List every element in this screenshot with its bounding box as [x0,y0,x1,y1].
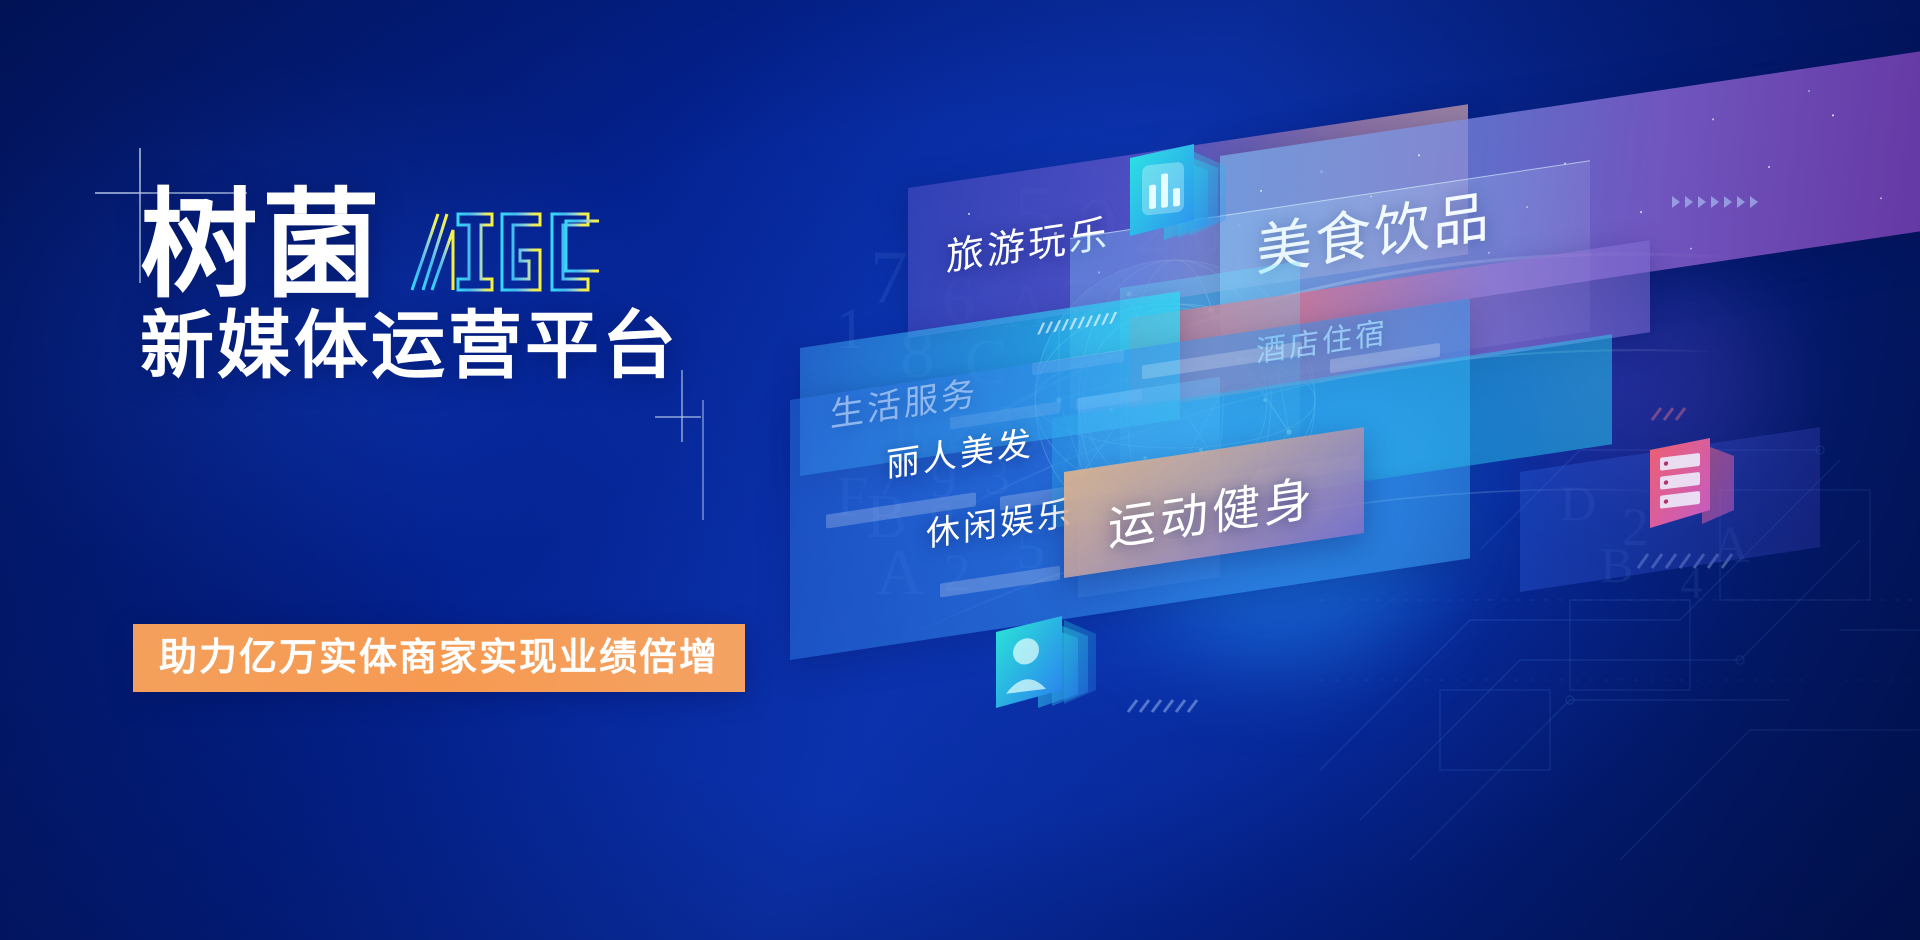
brand-name: 树菌 [140,186,384,304]
promo-banner: 5926476A718C0BE2BE07793B85A2F192DBA4 [0,0,1920,940]
card-header-stripes [1036,310,1122,335]
floating-icon-person[interactable] [988,608,1106,729]
hero-text-block: 树菌 [0,0,820,940]
hero-subtitle: 新媒体运营平台 [140,305,679,388]
floating-icon-chart[interactable] [1122,136,1240,257]
tagline-text: 助力亿万实体商家实现业绩倍增 [159,638,719,676]
category-label-fitness: 运动健身 [1108,458,1316,559]
aigc-logo [406,208,606,294]
placeholder-line [1142,341,1302,379]
floating-icon-server[interactable] [1642,430,1754,551]
vertical-rule [702,400,704,520]
category-collage: 旅游玩乐 美食饮品 [820,0,1920,940]
brand-title-row: 树菌 [140,186,606,304]
tagline-badge: 助力亿万实体商家实现业绩倍增 [133,624,745,692]
category-label-leisure: 休闲娱乐 [926,485,1074,556]
